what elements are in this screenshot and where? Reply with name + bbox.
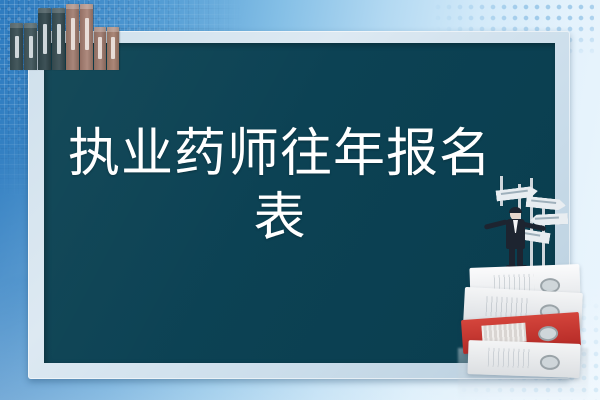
binder-cap (80, 4, 93, 9)
businessman-on-binder-stack-illustration (452, 176, 600, 400)
binder-cap (38, 8, 51, 13)
binder-item (52, 8, 65, 70)
binder-cap (94, 27, 106, 32)
businessman-hair (509, 207, 522, 213)
binder-cap (52, 8, 65, 13)
binder-item (66, 4, 79, 70)
binder-paper-lines (488, 348, 531, 368)
binder-cap (107, 27, 119, 32)
binder-label-strip (57, 24, 61, 54)
binder-ring-hole (538, 325, 559, 341)
slide-canvas: 执业药师往年报名表 (0, 0, 600, 400)
binder-item (94, 27, 106, 70)
binder-label-strip (15, 36, 19, 58)
binder-cap (10, 23, 23, 28)
binder-item (38, 8, 51, 70)
binder-row-top-left (6, 0, 116, 70)
binder-item (107, 27, 119, 70)
page-title: 执业药师往年报名表 (60, 122, 500, 250)
binder-label-strip (43, 24, 47, 54)
binder-label-strip (71, 18, 75, 50)
binder-label-strip (111, 37, 115, 59)
binder-label-strip (98, 37, 102, 59)
businessman-arm-left (484, 219, 508, 230)
binder-cap (24, 23, 37, 28)
binder-ring-hole (540, 355, 561, 371)
binder-item (24, 23, 37, 70)
binder-label-strip (85, 18, 89, 50)
stack-binder-white-bottom (467, 340, 580, 378)
binder-cap (66, 4, 79, 9)
binder-label-strip (29, 36, 33, 58)
binder-item (10, 23, 23, 70)
binder-item (80, 4, 93, 70)
